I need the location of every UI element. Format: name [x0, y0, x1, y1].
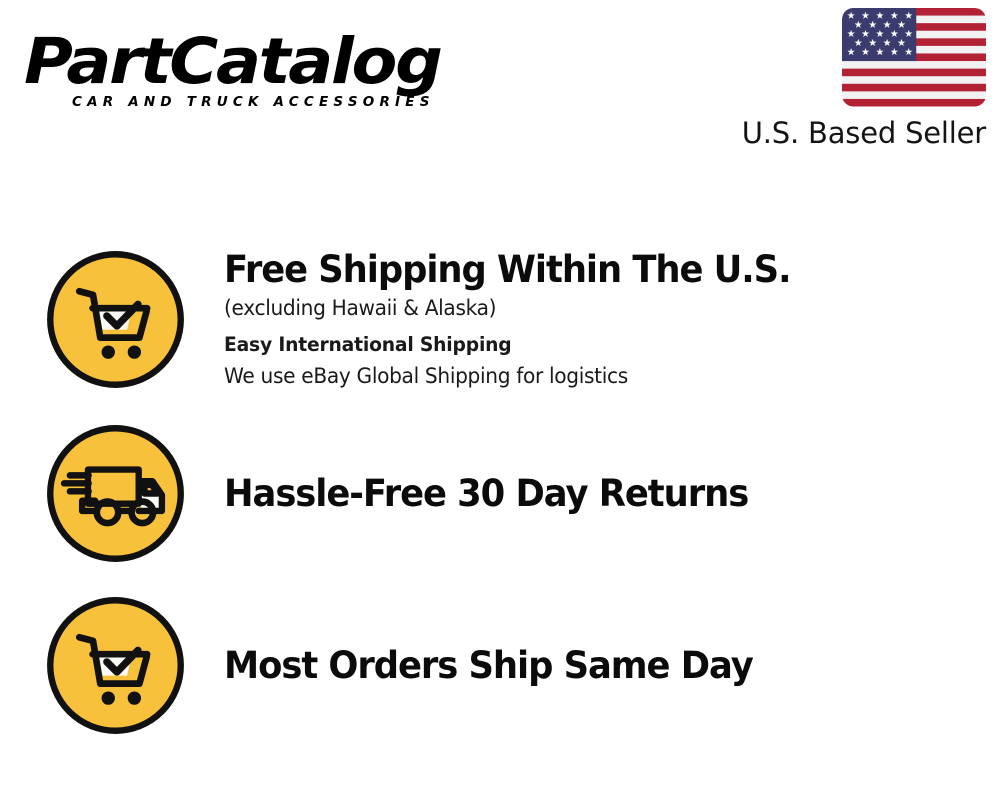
shopping-cart-check-icon: [43, 593, 188, 738]
feature-heading: Free Shipping Within The U.S.: [224, 247, 946, 293]
feature-text-block: Most Orders Ship Same Day: [224, 643, 1000, 689]
us-flag-icon: [842, 8, 986, 108]
feature-subline: We use eBay Global Shipping for logistic…: [224, 361, 950, 392]
delivery-truck-icon: [43, 421, 188, 566]
part-catalog-logo: PartCatalog CAR AND TRUCK ACCESSORIES: [24, 28, 494, 118]
us-based-seller-label: U.S. Based Seller: [716, 115, 986, 151]
shopping-cart-check-icon: [43, 247, 188, 392]
feature-heading: Hassle-Free 30 Day Returns: [224, 471, 946, 517]
brand-tagline: CAR AND TRUCK ACCESSORIES: [72, 94, 435, 110]
feature-row: Free Shipping Within The U.S. (excluding…: [0, 247, 1000, 392]
feature-subline-bold: Easy International Shipping: [224, 329, 950, 361]
feature-row: Most Orders Ship Same Day: [0, 593, 1000, 738]
feature-row: Hassle-Free 30 Day Returns: [0, 421, 1000, 566]
brand-wordmark: PartCatalog: [24, 28, 522, 96]
feature-subline: (excluding Hawaii & Alaska): [224, 293, 950, 324]
banner-header: PartCatalog CAR AND TRUCK ACCESSORIES: [0, 0, 1000, 175]
us-based-seller-badge: U.S. Based Seller: [716, 8, 986, 151]
feature-text-block: Hassle-Free 30 Day Returns: [224, 471, 1000, 517]
feature-text-block: Free Shipping Within The U.S. (excluding…: [224, 247, 1000, 392]
feature-heading: Most Orders Ship Same Day: [224, 643, 946, 689]
